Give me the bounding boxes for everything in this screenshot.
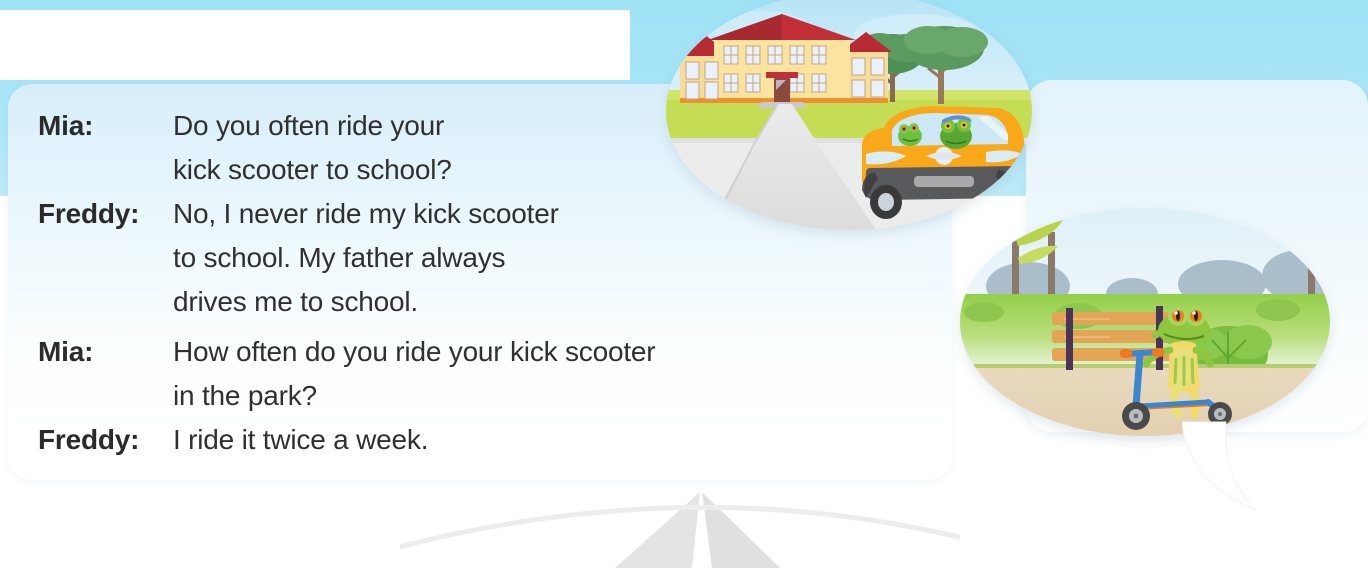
- speaker-label: Mia:: [38, 330, 173, 374]
- park-and-scooter-illustration: [960, 208, 1330, 436]
- school-and-car-illustration: [666, 0, 1032, 230]
- speaker-label: Mia:: [38, 104, 173, 148]
- dialogue-line: Mia: How often do you ride your kick sco…: [38, 330, 932, 418]
- empty-heading-box: [0, 10, 630, 80]
- utterance-text: No, I never ride my kick scooter to scho…: [173, 192, 559, 324]
- dialogue-line: Freddy: I ride it twice a week.: [38, 418, 932, 462]
- utterance-text: How often do you ride your kick scooter …: [173, 330, 655, 418]
- speaker-label: Freddy:: [38, 418, 173, 462]
- utterance-text: I ride it twice a week.: [173, 418, 428, 462]
- page-root: Mia: Do you often ride your kick scooter…: [0, 0, 1368, 568]
- speaker-label: Freddy:: [38, 192, 173, 236]
- utterance-text: Do you often ride your kick scooter to s…: [173, 104, 452, 192]
